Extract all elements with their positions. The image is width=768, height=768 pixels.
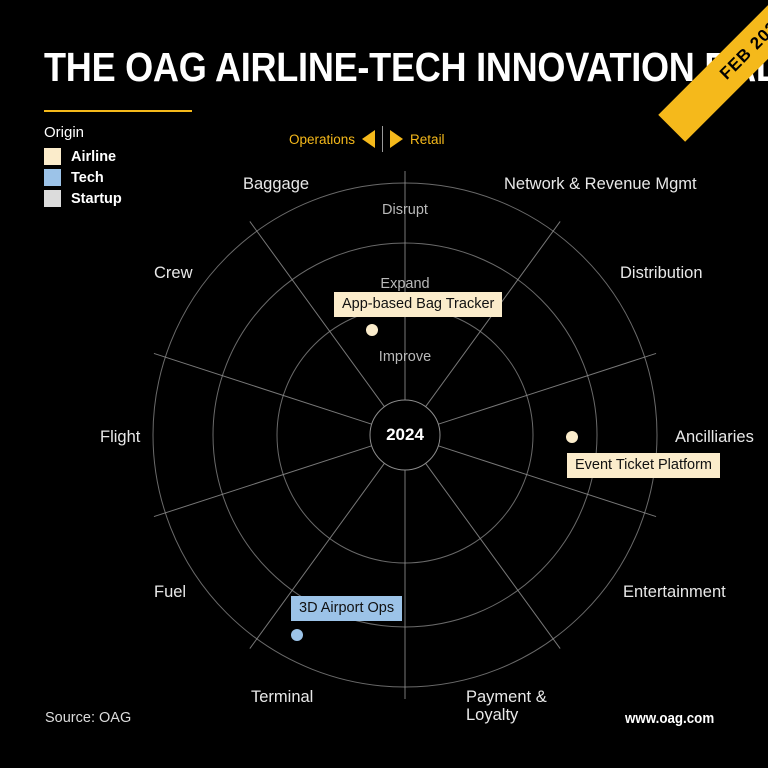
legend-swatch-tech xyxy=(44,169,61,186)
date-ribbon-label: FEB 2024 xyxy=(658,0,768,142)
sector-label-ancilliaries: Ancilliaries xyxy=(675,428,754,446)
legend: Origin Airline Tech Startup xyxy=(44,124,122,211)
axis-divider xyxy=(382,126,383,152)
date-ribbon: FEB 2024 xyxy=(618,0,768,150)
sector-label-distribution: Distribution xyxy=(620,264,703,282)
website-label: www.oag.com xyxy=(625,711,714,727)
data-point-3d-airport-ops xyxy=(291,629,303,641)
sector-label-entertainment: Entertainment xyxy=(623,583,726,601)
title-rule xyxy=(44,110,192,112)
infographic-canvas: FEB 2024 THE OAG AIRLINE-TECH INNOVATION… xyxy=(0,0,768,768)
legend-item-tech: Tech xyxy=(44,169,122,186)
data-point-label-event-ticket-platform: Event Ticket Platform xyxy=(567,453,720,478)
axis-label-retail: Retail xyxy=(410,132,445,147)
legend-item-startup: Startup xyxy=(44,190,122,207)
sector-label-fuel: Fuel xyxy=(154,583,186,601)
arrow-right-icon xyxy=(390,130,403,148)
legend-item-airline: Airline xyxy=(44,148,122,165)
sector-label-network-revenue-mgmt: Network & Revenue Mgmt xyxy=(504,175,697,193)
sector-label-terminal: Terminal xyxy=(251,688,313,706)
axis-label-operations: Operations xyxy=(289,132,355,147)
ring-label-improve: Improve xyxy=(379,349,431,365)
legend-title: Origin xyxy=(44,124,122,141)
legend-swatch-airline xyxy=(44,148,61,165)
axis-header: Operations Retail xyxy=(289,126,445,152)
arrow-left-icon xyxy=(362,130,375,148)
legend-label-startup: Startup xyxy=(71,191,122,207)
sector-label-crew: Crew xyxy=(154,264,193,282)
source-note: Source: OAG xyxy=(45,710,131,726)
ring-label-expand: Expand xyxy=(380,276,429,292)
legend-label-airline: Airline xyxy=(71,149,116,165)
data-point-label-3d-airport-ops: 3D Airport Ops xyxy=(291,596,402,621)
sector-label-baggage: Baggage xyxy=(243,175,309,193)
legend-label-tech: Tech xyxy=(71,170,104,186)
data-point-label-app-based-bag-tracker: App-based Bag Tracker xyxy=(334,292,502,317)
sector-label-payment-loyalty: Payment & Loyalty xyxy=(466,688,547,725)
sector-label-flight: Flight xyxy=(100,428,140,446)
data-point-event-ticket-platform xyxy=(566,431,578,443)
legend-swatch-startup xyxy=(44,190,61,207)
hub-year-label: 2024 xyxy=(386,425,424,445)
ring-label-disrupt: Disrupt xyxy=(382,202,428,218)
data-point-app-based-bag-tracker xyxy=(366,324,378,336)
